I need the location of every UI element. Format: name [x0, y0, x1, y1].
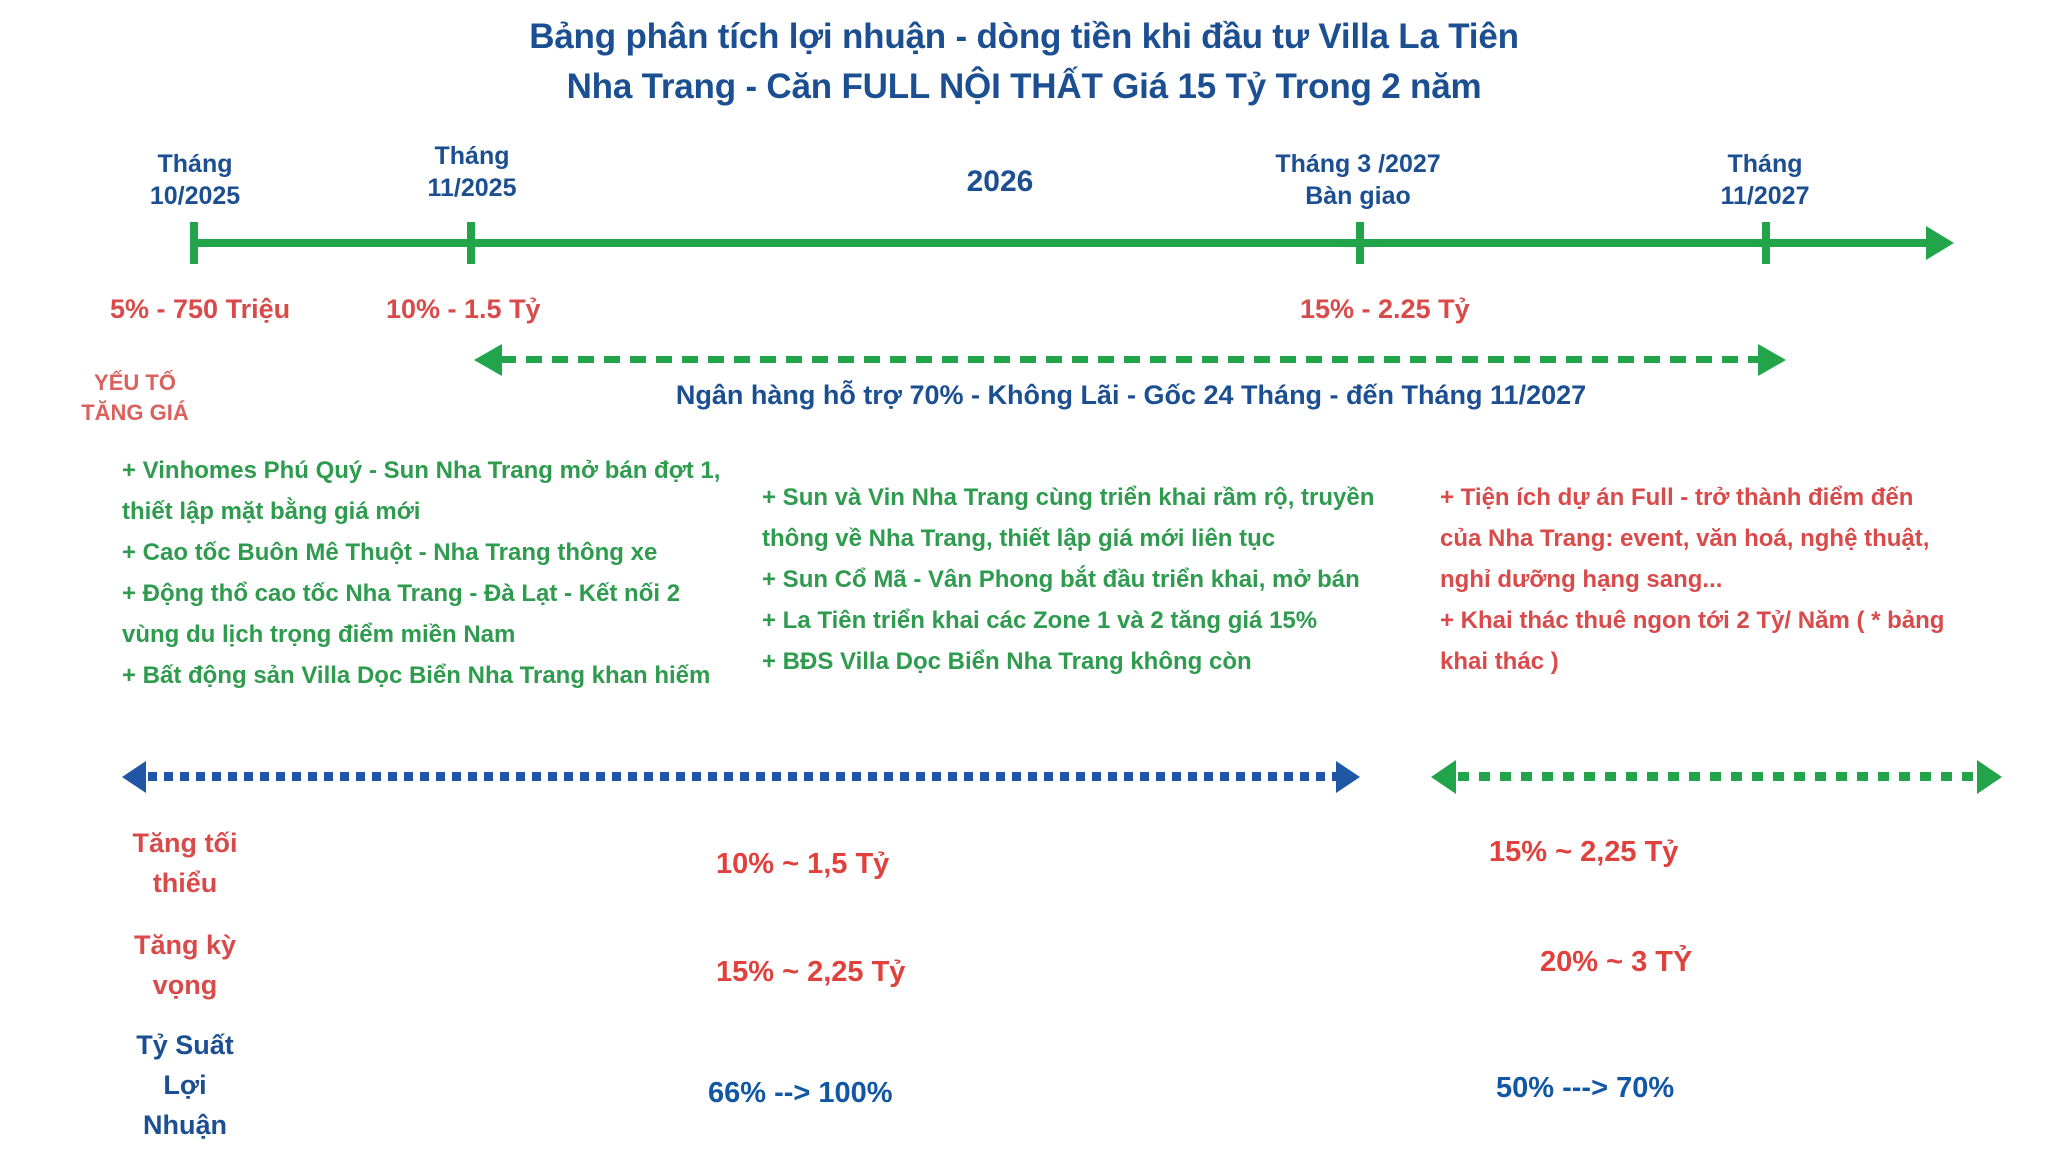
factor-line: + Sun Cổ Mã - Vân Phong bắt đầu triển kh…: [762, 559, 1422, 600]
timeline-tick-1: [190, 222, 198, 264]
summary-row-1-phase2-value: 20% ~ 3 TỶ: [1540, 946, 1692, 979]
bank-arrow-right-icon: [1758, 344, 1786, 376]
factor-column-left: + Vinhomes Phú Quý - Sun Nha Trang mở bá…: [122, 450, 762, 696]
payment-amount-3: 15% - 2.25 Tỷ: [1300, 294, 1470, 325]
summary-row-2-phase2-value: 50% ---> 70%: [1496, 1072, 1674, 1105]
phase2-span-line: [1458, 772, 1979, 781]
factor-line: + La Tiên triển khai các Zone 1 và 2 tăn…: [762, 600, 1422, 641]
bank-support-line: [500, 356, 1762, 363]
phase1-arrow-left-icon: [122, 761, 146, 793]
summary-row-label-expected-increase: Tăng kỳ vọng: [80, 925, 290, 1005]
price-factor-label: YẾU TỐ TĂNG GIÁ: [40, 368, 230, 428]
title-line-1: Bảng phân tích lợi nhuận - dòng tiền khi…: [0, 12, 2048, 62]
timeline-tick-4: [1762, 222, 1770, 264]
bank-arrow-left-icon: [474, 344, 502, 376]
factor-line: + BĐS Villa Dọc Biển Nha Trang không còn: [762, 641, 1422, 682]
factor-line: vùng du lịch trọng điểm miền Nam: [122, 614, 762, 655]
factor-line: thiết lập mặt bằng giá mới: [122, 491, 762, 532]
factor-line: + Tiện ích dự án Full - trở thành điểm đ…: [1440, 477, 2030, 518]
factor-line: của Nha Trang: event, văn hoá, nghệ thuậ…: [1440, 518, 2030, 559]
timeline-label-2026: 2026: [840, 166, 1160, 198]
summary-row-2-phase1-value: 66% --> 100%: [708, 1077, 893, 1110]
timeline-arrowhead-icon: [1926, 226, 1954, 260]
phase1-arrow-right-icon: [1336, 761, 1360, 793]
factor-line: + Bất động sản Villa Dọc Biển Nha Trang …: [122, 655, 762, 696]
timeline-tick-2: [467, 222, 475, 264]
timeline-label-nov-2025: Tháng 11/2025: [377, 140, 567, 204]
factor-line: + Vinhomes Phú Quý - Sun Nha Trang mở bá…: [122, 450, 762, 491]
timeline-label-oct-2025: Tháng 10/2025: [100, 148, 290, 212]
bank-support-caption: Ngân hàng hỗ trợ 70% - Không Lãi - Gốc 2…: [500, 380, 1762, 411]
factor-line: + Cao tốc Buôn Mê Thuột - Nha Trang thôn…: [122, 532, 762, 573]
phase2-arrow-left-icon: [1431, 760, 1456, 794]
phase1-span-line: [148, 772, 1338, 781]
factor-line: + Động thổ cao tốc Nha Trang - Đà Lạt - …: [122, 573, 762, 614]
factor-column-middle: + Sun và Vin Nha Trang cùng triển khai r…: [762, 477, 1422, 682]
timeline-label-nov-2027: Tháng 11/2027: [1670, 148, 1860, 212]
payment-amount-1: 5% - 750 Triệu: [110, 294, 290, 325]
factor-line: nghỉ dưỡng hạng sang...: [1440, 559, 2030, 600]
page-title: Bảng phân tích lợi nhuận - dòng tiền khi…: [0, 12, 2048, 112]
factor-line: khai thác ): [1440, 641, 2030, 682]
summary-row-label-min-increase: Tăng tối thiểu: [80, 823, 290, 903]
title-line-2: Nha Trang - Căn FULL NỘI THẤT Giá 15 Tỷ …: [0, 62, 2048, 112]
factor-line: + Sun và Vin Nha Trang cùng triển khai r…: [762, 477, 1422, 518]
phase2-arrow-right-icon: [1977, 760, 2002, 794]
summary-row-1-phase1-value: 15% ~ 2,25 Tỷ: [716, 956, 905, 989]
summary-row-0-phase1-value: 10% ~ 1,5 Tỷ: [716, 848, 889, 881]
factor-line: thông về Nha Trang, thiết lập giá mới li…: [762, 518, 1422, 559]
summary-row-0-phase2-value: 15% ~ 2,25 Tỷ: [1489, 836, 1678, 869]
factor-column-right: + Tiện ích dự án Full - trở thành điểm đ…: [1440, 477, 2030, 682]
timeline-axis: [190, 239, 1942, 247]
infographic-canvas: Bảng phân tích lợi nhuận - dòng tiền khi…: [0, 0, 2048, 1164]
timeline-tick-3: [1356, 222, 1364, 264]
payment-amount-2: 10% - 1.5 Tỷ: [386, 294, 541, 325]
summary-row-label-roi: Tỷ Suất Lợi Nhuận: [80, 1025, 290, 1145]
factor-line: + Khai thác thuê ngon tới 2 Tỷ/ Năm ( * …: [1440, 600, 2030, 641]
timeline-label-mar-2027: Tháng 3 /2027 Bàn giao: [1240, 148, 1476, 212]
